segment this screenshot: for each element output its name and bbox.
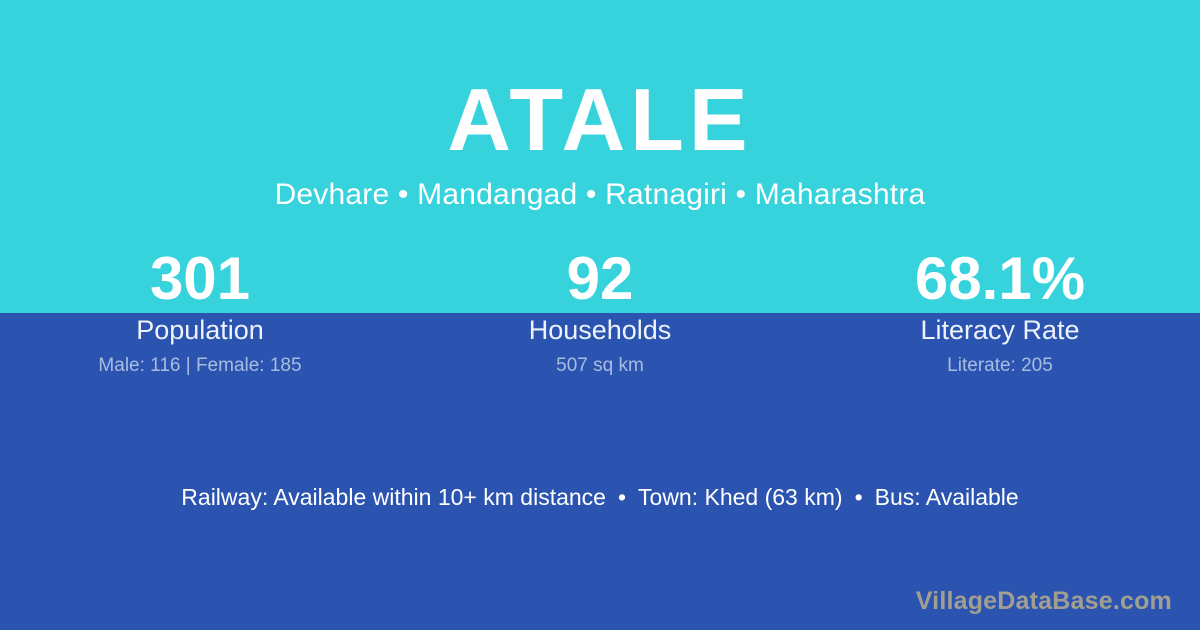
stat-label-literacy-rate: Literacy Rate (920, 315, 1079, 346)
amenity-town: Town: Khed (63 km) (638, 484, 843, 511)
amenities-line: Railway: Available within 10+ km distanc… (0, 484, 1200, 511)
bullet-separator-icon: • (606, 484, 638, 511)
stat-label-population: Population (136, 315, 264, 346)
stat-sub-population: Male: 116 | Female: 185 (98, 355, 301, 377)
bullet-separator-icon: • (843, 484, 875, 511)
stats-row: 301 Population Male: 116 | Female: 185 9… (0, 245, 1200, 385)
village-info-card: ATALE Devhare • Mandangad • Ratnagiri • … (0, 0, 1200, 630)
stat-households: 92 Households 507 sq km (400, 245, 800, 385)
site-watermark: VillageDataBase.com (916, 587, 1172, 616)
amenity-railway: Railway: Available within 10+ km distanc… (181, 484, 606, 511)
stat-sub-households: 507 sq km (556, 355, 644, 377)
amenity-bus: Bus: Available (875, 484, 1019, 511)
stat-sub-literacy-rate: Literate: 205 (947, 355, 1053, 377)
stat-population: 301 Population Male: 116 | Female: 185 (0, 245, 400, 385)
stat-value-households: 92 (567, 245, 634, 313)
page-title: ATALE (447, 76, 752, 164)
stat-value-literacy-rate: 68.1% (915, 245, 1085, 313)
card-header: ATALE Devhare • Mandangad • Ratnagiri • … (0, 0, 1200, 245)
breadcrumb: Devhare • Mandangad • Ratnagiri • Mahara… (275, 178, 926, 211)
stat-label-households: Households (529, 315, 672, 346)
stat-literacy-rate: 68.1% Literacy Rate Literate: 205 (800, 245, 1200, 385)
stat-value-population: 301 (150, 245, 250, 313)
